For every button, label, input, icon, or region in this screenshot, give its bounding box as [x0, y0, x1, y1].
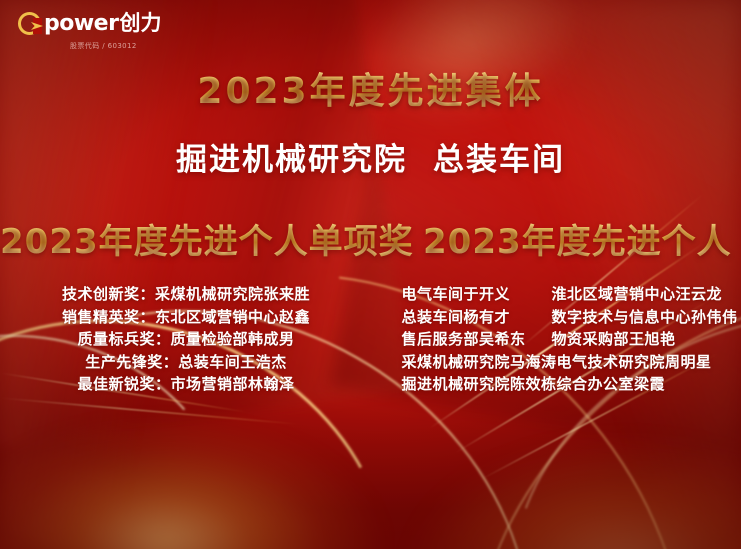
individual-name: 综合办公室梁霞 [557, 373, 712, 396]
list-item: 技术创新奖：采煤机械研究院张来胜 [62, 283, 310, 306]
list-item: 电气车间于开义 淮北区域营销中心汪云龙 [402, 283, 712, 306]
section-heading-special-award: 2023年度先进个人单项奖 [0, 214, 414, 263]
power-c-icon [18, 12, 41, 35]
individual-name: 掘进机械研究院陈效栋 [402, 373, 557, 396]
list-item: 采煤机械研究院马海涛 电气技术研究院周明星 [402, 351, 712, 374]
list-item: 生产先锋奖：总装车间王浩杰 [85, 351, 287, 374]
individual-name: 采煤机械研究院马海涛 [402, 351, 557, 374]
logo-wordmark: power [44, 13, 118, 35]
winner-columns: 技术创新奖：采煤机械研究院张来胜 销售精英奖：东北区域营销中心赵鑫 质量标兵奖：… [0, 283, 741, 396]
individual-name: 淮北区域营销中心汪云龙 [552, 283, 723, 306]
special-award-list: 技术创新奖：采煤机械研究院张来胜 销售精英奖：东北区域营销中心赵鑫 质量标兵奖：… [0, 283, 372, 396]
individual-name: 售后服务部吴希东 [402, 328, 552, 351]
list-item: 最佳新锐奖：市场营销部林翰泽 [77, 373, 294, 396]
company-logo: power 创力 股票代码 / 603012 [18, 12, 161, 51]
section-headings: 2023年度先进个人单项奖 2023年度先进个人 [0, 214, 741, 263]
individual-name: 电气技术研究院周明星 [557, 351, 712, 374]
list-item: 销售精英奖：东北区域营销中心赵鑫 [62, 306, 310, 329]
logo-stock-code: 股票代码 / 603012 [70, 41, 137, 51]
page-title: 2023年度先进集体 [0, 62, 741, 114]
logo-row: power 创力 [18, 12, 161, 35]
collective-winner-2: 总装车间 [433, 142, 565, 178]
individual-name: 电气车间于开义 [402, 283, 552, 306]
advanced-individual-list: 电气车间于开义 淮北区域营销中心汪云龙 总装车间杨有才 数字技术与信息中心孙伟伟… [372, 283, 741, 396]
award-poster: power 创力 股票代码 / 603012 2023年度先进集体 掘进机械研究… [0, 0, 741, 549]
list-item: 质量标兵奖：质量检验部韩成男 [77, 328, 294, 351]
list-item: 总装车间杨有才 数字技术与信息中心孙伟伟 [402, 306, 712, 329]
list-item: 售后服务部吴希东 物资采购部王旭艳 [402, 328, 712, 351]
individual-name: 总装车间杨有才 [402, 306, 552, 329]
collective-winners: 掘进机械研究院总装车间 [0, 134, 741, 179]
individual-name: 物资采购部王旭艳 [552, 328, 712, 351]
collective-winner-1: 掘进机械研究院 [176, 142, 407, 178]
section-heading-advanced-individual: 2023年度先进个人 [414, 214, 741, 263]
list-item: 掘进机械研究院陈效栋 综合办公室梁霞 [402, 373, 712, 396]
logo-brand-cn: 创力 [119, 13, 161, 34]
individual-name: 数字技术与信息中心孙伟伟 [552, 306, 738, 329]
